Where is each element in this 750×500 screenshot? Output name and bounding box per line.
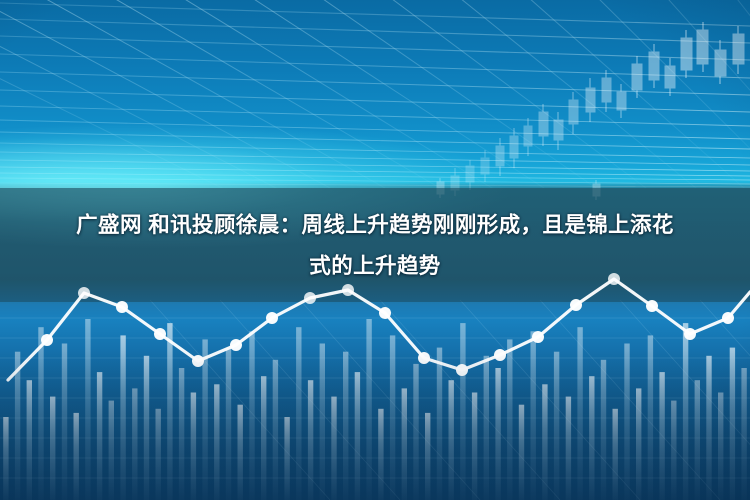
trend-point-marker bbox=[494, 349, 506, 361]
trend-point-marker bbox=[532, 331, 544, 343]
headline-line-1: 广盛网 和讯投顾徐晨：周线上升趋势刚刚形成，且是锦上添花 bbox=[76, 213, 674, 237]
trend-point-marker bbox=[304, 292, 316, 304]
trend-point-marker bbox=[78, 287, 90, 299]
stock-banner-image: 广盛网 和讯投顾徐晨：周线上升趋势刚刚形成，且是锦上添花 式的上升趋势 bbox=[0, 0, 750, 500]
trend-point-marker bbox=[722, 312, 734, 324]
trend-point-marker bbox=[192, 355, 204, 367]
trend-point-marker bbox=[418, 352, 430, 364]
page-title: 广盛网 和讯投顾徐晨：周线上升趋势刚刚形成，且是锦上添花 式的上升趋势 bbox=[0, 205, 750, 287]
trend-point-marker bbox=[230, 339, 242, 351]
trend-point-marker bbox=[684, 328, 696, 340]
trend-point-marker bbox=[570, 299, 582, 311]
trend-point-marker bbox=[646, 300, 658, 312]
trend-point-marker bbox=[266, 312, 278, 324]
trend-point-marker bbox=[456, 364, 468, 376]
trend-point-marker bbox=[379, 307, 391, 319]
trend-point-marker bbox=[41, 334, 53, 346]
trend-point-marker bbox=[116, 301, 128, 313]
trend-point-marker bbox=[154, 328, 166, 340]
headline-line-2: 式的上升趋势 bbox=[309, 254, 440, 278]
